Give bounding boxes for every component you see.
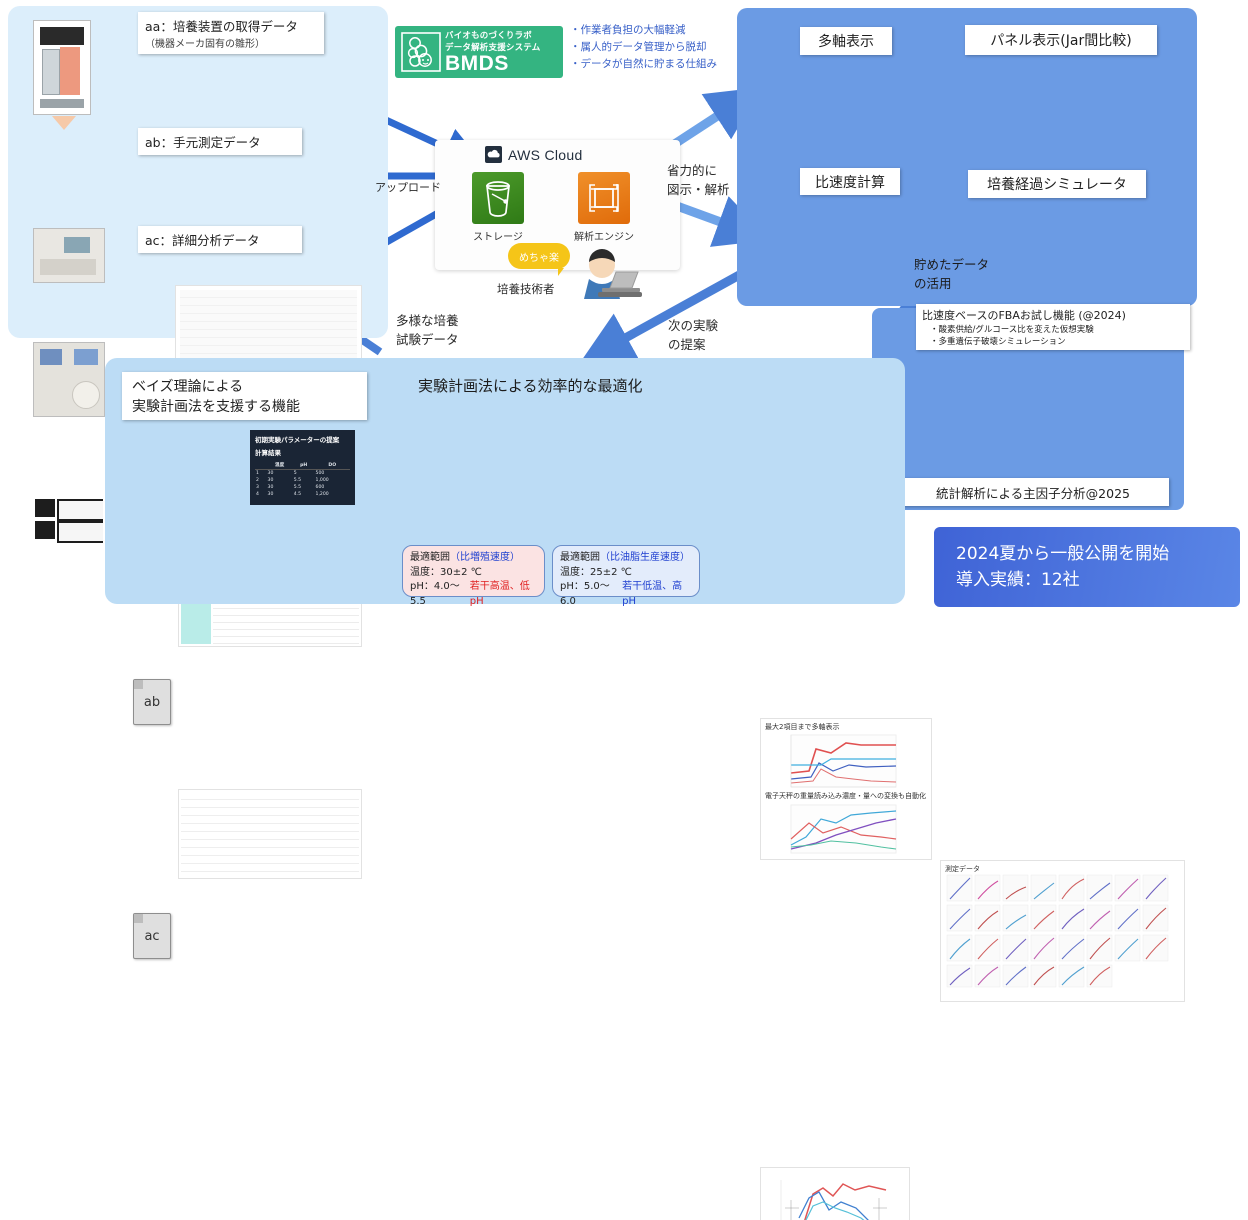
cloud-icon	[485, 146, 502, 163]
bmds-benefit-0: ・作業者負担の大幅軽減	[570, 22, 736, 39]
optimum-growth-temp: 温度：30±2 ℃	[410, 566, 537, 581]
sheet-ac	[178, 789, 362, 879]
release-banner-line1: 2024夏から一般公開を開始	[956, 541, 1240, 567]
analysis-engine-label: 解析エンジン	[559, 228, 649, 243]
optimum-growth-ph: pH：4.0〜5.5	[410, 580, 470, 609]
chart-panel-display: 測定データ	[940, 860, 1185, 1002]
persona-speech-bubble: めちゃ楽	[508, 243, 570, 269]
label-efficient-visualization: 省力的に 図示・解析	[667, 162, 730, 200]
optimum-lipid-temp: 温度：25±2 ℃	[560, 566, 692, 581]
release-banner-line2: 導入実績：12社	[956, 567, 1240, 593]
doe-title: 実験計画法による効率的な最適化	[418, 375, 643, 398]
bmds-benefit-2: ・データが自然に貯まる仕組み	[570, 56, 736, 73]
fba-bullet-0: ・酸素供給/グルコース比を変えた仮想実験	[930, 323, 1184, 335]
bmds-logo-line1: バイオものづくりラボ	[445, 29, 540, 41]
chart-multi-axis: 最大2項目まで多軸表示 電子天秤の重量読み込み濃度・量への変換も自動化	[760, 718, 932, 860]
optimum-growth-title: 最適範囲（比増殖速度）	[410, 551, 537, 566]
param-card-subtitle: 計算結果	[255, 447, 350, 457]
fba-title-box: 比速度ベースのFBAお試し機能 (@2024) ・酸素供給/グルコース比を変えた…	[916, 304, 1190, 350]
table-row: 4304.51,200	[255, 491, 350, 498]
param-card-title: 初期実験パラメーターの提案	[255, 434, 350, 444]
bayes-title-box: ベイズ理論による 実験計画法を支援する機能	[122, 372, 367, 420]
label-upload: アップロード	[375, 180, 441, 197]
card-title-aa: aa：培養装置の取得データ （機器メーカ固有の雛形）	[138, 12, 324, 54]
optimum-range-lipid: 最適範囲（比油脂生産速度） 温度：25±2 ℃ pH：5.0〜6.0 若干低温、…	[552, 545, 700, 597]
storage-label: ストレージ	[453, 228, 543, 243]
bmds-bubbles-icon	[401, 32, 441, 72]
file-icon-ac: ac	[133, 913, 171, 959]
tile-label-simulator: 培養経過シミュレータ	[968, 170, 1146, 198]
chart-multi-axis-subtitle-1: 最大2項目まで多軸表示	[765, 722, 839, 732]
optimum-lipid-note: 若干低温、高pH	[622, 580, 692, 609]
label-stored-data-use: 貯めたデータ の活用	[914, 256, 989, 294]
release-banner: 2024夏から一般公開を開始 導入実績：12社	[934, 527, 1240, 607]
bmds-logo-name: BMDS	[445, 53, 540, 75]
photo-chromatograph	[33, 497, 103, 543]
label-culture-engineer: 培養技術者	[497, 281, 555, 298]
fba-bullet-1: ・多重遺伝子破壊シミュレーション	[930, 335, 1184, 347]
analysis-engine-icon	[578, 172, 630, 224]
card-title-ac: ac：詳細分析データ	[138, 226, 302, 253]
optimum-range-growth: 最適範囲（比増殖速度） 温度：30±2 ℃ pH：4.0〜5.5 若干高温、低p…	[402, 545, 545, 597]
tile-label-specific-rate: 比速度計算	[800, 168, 900, 195]
chart-specific-rate	[760, 1167, 910, 1220]
label-next-experiment: 次の実験 の提案	[668, 317, 718, 355]
card-title-ab: ab：手元測定データ	[138, 128, 302, 155]
photo-bioreactor	[33, 20, 91, 115]
aws-cloud-header: AWS Cloud	[485, 146, 583, 163]
bmds-benefits-list: ・作業者負担の大幅軽減 ・属人的データ管理から脱却 ・データが自然に貯まる仕組み	[570, 22, 736, 73]
optimum-lipid-title: 最適範囲（比油脂生産速度）	[560, 551, 692, 566]
table-row: 1305500	[255, 470, 350, 478]
optimum-lipid-ph: pH：5.0〜6.0	[560, 580, 622, 609]
optimum-growth-note: 若干高温、低pH	[470, 580, 537, 609]
storage-service-icon	[472, 172, 524, 224]
chart-panel-subtitle: 測定データ	[945, 864, 980, 874]
bmds-logo: バイオものづくりラボ データ解析支援システム BMDS	[395, 26, 563, 78]
stats-banner: 統計解析による主因子分析@2025	[897, 478, 1169, 506]
initial-parameter-card: 初期実験パラメーターの提案 計算結果 温度 pH DO 1305500 2305…	[250, 430, 355, 505]
fba-title: 比速度ベースのFBAお試し機能 (@2024)	[922, 307, 1184, 323]
tile-label-panel-display: パネル表示(Jar間比較)	[965, 25, 1157, 55]
param-table-header: 温度 pH DO	[255, 461, 350, 470]
chart-multi-axis-subtitle-2: 電子天秤の重量読み込み濃度・量への変換も自動化	[765, 791, 926, 801]
file-icon-ab: ab	[133, 679, 171, 725]
table-row: 3305.5600	[255, 484, 350, 491]
process-down-arrow	[52, 116, 76, 130]
photo-analyzer-2	[33, 342, 105, 417]
tile-label-multi-axis: 多軸表示	[800, 27, 892, 55]
photo-analyzer-1	[33, 228, 105, 283]
bmds-benefit-1: ・属人的データ管理から脱却	[570, 39, 736, 56]
table-row: 2305.51,000	[255, 477, 350, 484]
persona-avatar	[572, 248, 642, 306]
label-diverse-culture-data: 多様な培養 試験データ	[396, 312, 459, 350]
aws-cloud-title: AWS Cloud	[508, 147, 583, 163]
